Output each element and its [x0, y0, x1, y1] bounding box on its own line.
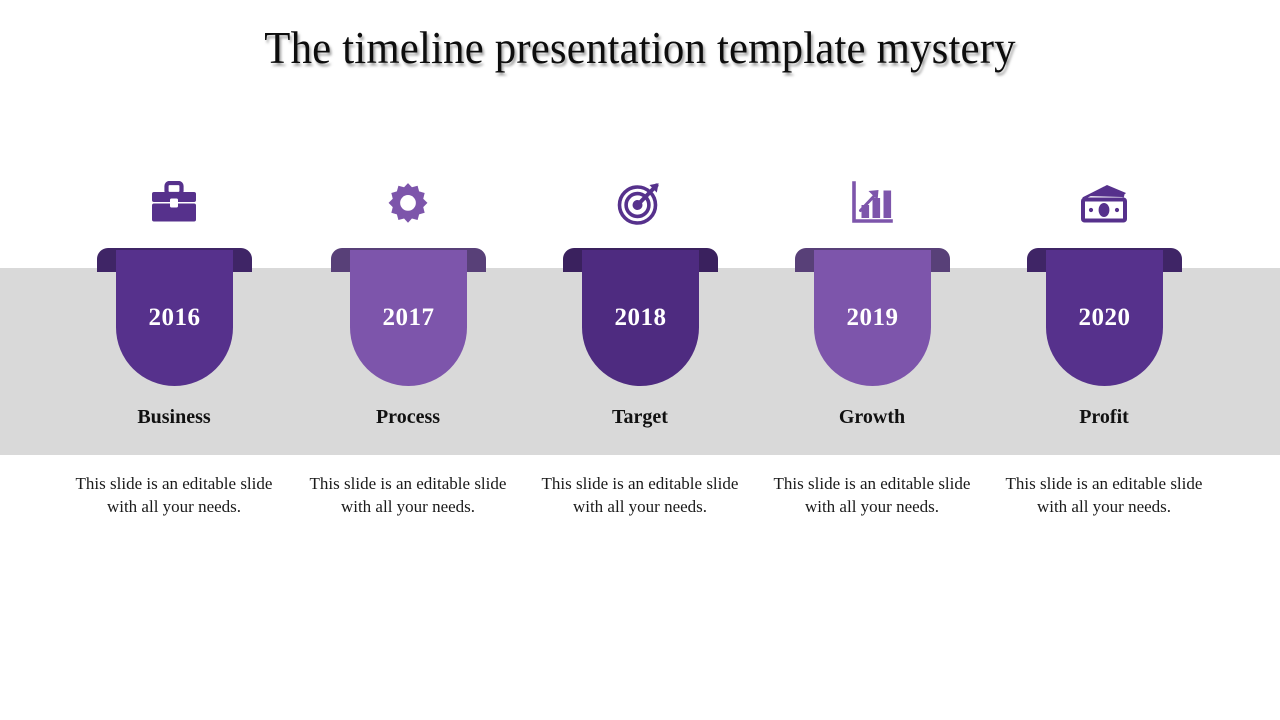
milestone-body: This slide is an editable slide with all… [540, 472, 740, 519]
badge-year-label: 2020 [1079, 305, 1131, 330]
milestone-body: This slide is an editable slide with all… [308, 472, 508, 519]
bar-chart-growth-icon [756, 176, 988, 230]
badge-2020: 2020 [988, 248, 1220, 388]
briefcase-icon [58, 176, 290, 230]
badge-body: 2018 [582, 250, 699, 386]
timeline-item-2018[interactable]: 2018 Target This slide is an editable sl… [524, 0, 756, 720]
target-arrow-icon [524, 176, 756, 230]
badge-2018: 2018 [524, 248, 756, 388]
timeline-item-2016[interactable]: 2016 Business This slide is an editable … [58, 0, 290, 720]
badge-body: 2020 [1046, 250, 1163, 386]
milestone-heading: Process [292, 405, 524, 429]
milestone-heading: Profit [988, 405, 1220, 429]
timeline-item-2017[interactable]: 2017 Process This slide is an editable s… [292, 0, 524, 720]
milestone-body: This slide is an editable slide with all… [74, 472, 274, 519]
badge-year-label: 2017 [383, 305, 435, 330]
gear-icon [292, 176, 524, 230]
milestone-body: This slide is an editable slide with all… [1004, 472, 1204, 519]
badge-year-label: 2019 [847, 305, 899, 330]
badge-year-label: 2016 [149, 305, 201, 330]
badge-body: 2016 [116, 250, 233, 386]
badge-year-label: 2018 [615, 305, 667, 330]
milestone-heading: Business [58, 405, 290, 429]
milestone-heading: Target [524, 405, 756, 429]
money-stack-icon [988, 176, 1220, 230]
badge-body: 2017 [350, 250, 467, 386]
timeline-container: 2016 Business This slide is an editable … [0, 0, 1280, 720]
badge-2016: 2016 [58, 248, 290, 388]
badge-2019: 2019 [756, 248, 988, 388]
badge-body: 2019 [814, 250, 931, 386]
milestone-heading: Growth [756, 405, 988, 429]
badge-2017: 2017 [292, 248, 524, 388]
presentation-slide: The timeline presentation template myste… [0, 0, 1280, 720]
timeline-item-2020[interactable]: 2020 Profit This slide is an editable sl… [988, 0, 1220, 720]
timeline-item-2019[interactable]: 2019 Growth This slide is an editable sl… [756, 0, 988, 720]
milestone-body: This slide is an editable slide with all… [772, 472, 972, 519]
